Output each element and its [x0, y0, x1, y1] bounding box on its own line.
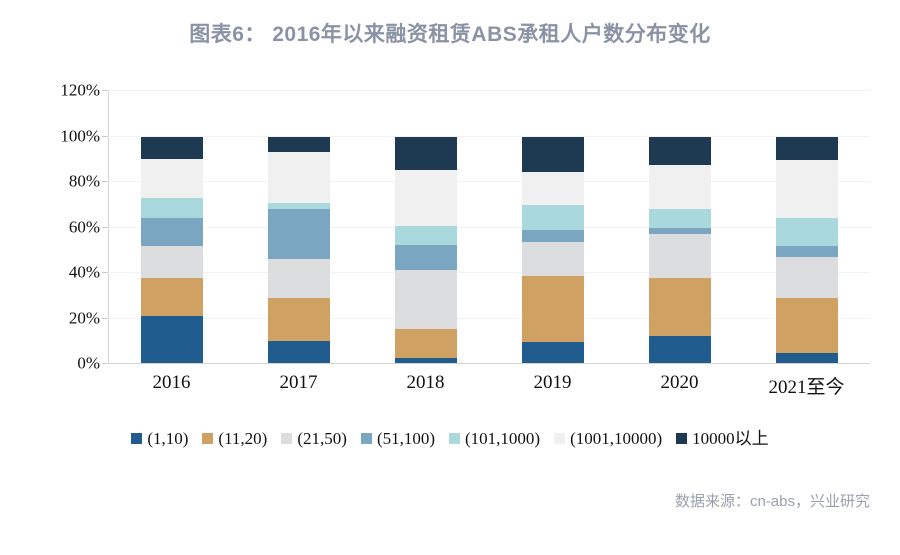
bar-segment[interactable]	[649, 165, 711, 209]
bar-segment[interactable]	[522, 230, 584, 243]
bar-segment[interactable]	[141, 159, 203, 198]
x-axis-tick-label: 2019	[488, 372, 618, 394]
legend-item[interactable]: 10000以上	[676, 430, 769, 447]
bar-segment[interactable]	[395, 170, 457, 227]
bar-segment[interactable]	[649, 137, 711, 165]
x-axis-tick-label: 2020	[615, 372, 745, 394]
gridline	[108, 181, 870, 182]
bar-segment[interactable]	[268, 259, 330, 298]
legend-item-label: (101,1000)	[465, 430, 540, 447]
stacked-bar[interactable]	[141, 137, 203, 364]
legend-item[interactable]: (21,50)	[281, 430, 347, 447]
y-axis-tick	[102, 318, 108, 319]
bar-group	[268, 91, 330, 364]
bar-segment[interactable]	[522, 137, 584, 172]
y-axis-tick-label: 120%	[42, 82, 100, 99]
x-axis-tick-label: 2017	[234, 372, 364, 394]
stacked-bar[interactable]	[395, 137, 457, 364]
y-axis-tick	[102, 181, 108, 182]
bar-group	[395, 91, 457, 364]
bar-segment[interactable]	[522, 276, 584, 342]
y-axis-tick	[102, 136, 108, 137]
bar-segment[interactable]	[776, 298, 838, 353]
x-axis-tick-label: 2016	[107, 372, 237, 394]
legend-item-label: (1,10)	[147, 430, 188, 447]
bar-segment[interactable]	[776, 218, 838, 245]
bar-segment[interactable]	[395, 226, 457, 244]
legend-swatch-icon	[202, 433, 213, 444]
bar-segment[interactable]	[141, 137, 203, 160]
source-note: 数据来源：cn-abs，兴业研究	[675, 490, 870, 511]
y-axis-tick-label: 100%	[42, 127, 100, 144]
bar-segment[interactable]	[522, 342, 584, 364]
bar-segment[interactable]	[649, 336, 711, 364]
bar-segment[interactable]	[649, 234, 711, 277]
gridline	[108, 227, 870, 228]
legend-item-label: (51,100)	[377, 430, 435, 447]
y-axis-tick-label: 60%	[42, 218, 100, 235]
stacked-bar[interactable]	[522, 137, 584, 364]
legend-swatch-icon	[281, 433, 292, 444]
stacked-bar[interactable]	[268, 137, 330, 364]
y-axis-tick-label: 0%	[42, 355, 100, 372]
legend-swatch-icon	[554, 433, 565, 444]
bar-segment[interactable]	[522, 205, 584, 230]
bar-segment[interactable]	[776, 257, 838, 298]
y-axis-tick	[102, 363, 108, 364]
y-axis-tick-label: 40%	[42, 264, 100, 281]
legend-item[interactable]: (1001,10000)	[554, 430, 662, 447]
bar-segment[interactable]	[268, 341, 330, 364]
legend-swatch-icon	[361, 433, 372, 444]
gridline	[108, 136, 870, 137]
gridline	[108, 318, 870, 319]
legend-swatch-icon	[449, 433, 460, 444]
bar-segment[interactable]	[268, 203, 330, 210]
bar-segment[interactable]	[268, 298, 330, 341]
page-title: 图表6： 2016年以来融资租赁ABS承租人户数分布变化	[0, 18, 900, 48]
bar-segment[interactable]	[141, 278, 203, 317]
x-axis-tick-label: 2018	[361, 372, 491, 394]
y-axis-tick	[102, 90, 108, 91]
bar-segment[interactable]	[395, 329, 457, 359]
legend-item[interactable]: (101,1000)	[449, 430, 540, 447]
legend-item-label: (11,20)	[218, 430, 267, 447]
legend-item[interactable]: (11,20)	[202, 430, 267, 447]
bar-segment[interactable]	[776, 137, 838, 161]
bar-segment[interactable]	[141, 198, 203, 218]
bar-segment[interactable]	[141, 316, 203, 364]
bar-segment[interactable]	[395, 245, 457, 270]
bar-group	[522, 91, 584, 364]
bar-segment[interactable]	[395, 137, 457, 170]
y-axis-labels: 0%20%40%60%80%100%120%	[36, 0, 100, 555]
bar-segment[interactable]	[141, 218, 203, 245]
gridline	[108, 90, 870, 91]
bar-segment[interactable]	[522, 242, 584, 276]
bar-segment[interactable]	[268, 137, 330, 153]
legend-item[interactable]: (1,10)	[131, 430, 188, 447]
bar-group	[776, 91, 838, 364]
stacked-bar[interactable]	[649, 137, 711, 364]
y-axis-tick	[102, 227, 108, 228]
chart-legend: (1,10)(11,20)(21,50)(51,100)(101,1000)(1…	[0, 430, 900, 447]
bar-segment[interactable]	[268, 152, 330, 202]
legend-swatch-icon	[676, 433, 687, 444]
y-axis-tick	[102, 272, 108, 273]
plot-area	[108, 90, 870, 364]
legend-item[interactable]: (51,100)	[361, 430, 435, 447]
bar-group	[141, 91, 203, 364]
bar-segment[interactable]	[522, 172, 584, 205]
bar-segment[interactable]	[141, 246, 203, 278]
legend-item-label: (1001,10000)	[570, 430, 662, 447]
x-axis-tick-label: 2021至今	[742, 372, 872, 399]
bar-segment[interactable]	[649, 278, 711, 336]
legend-swatch-icon	[131, 433, 142, 444]
bar-segment[interactable]	[649, 228, 711, 235]
bar-segment[interactable]	[268, 209, 330, 259]
bar-group	[649, 91, 711, 364]
y-axis-tick-label: 80%	[42, 173, 100, 190]
stacked-bar[interactable]	[776, 137, 838, 364]
legend-item-label: 10000以上	[692, 430, 769, 447]
bar-segment[interactable]	[776, 160, 838, 218]
bar-segment[interactable]	[395, 270, 457, 329]
y-axis-tick-label: 20%	[42, 309, 100, 326]
x-axis-labels: 201620172018201920202021至今	[108, 372, 870, 402]
x-axis-line	[108, 363, 870, 364]
bar-segment[interactable]	[649, 209, 711, 227]
bar-segment[interactable]	[776, 246, 838, 257]
gridline	[108, 272, 870, 273]
legend-item-label: (21,50)	[297, 430, 347, 447]
